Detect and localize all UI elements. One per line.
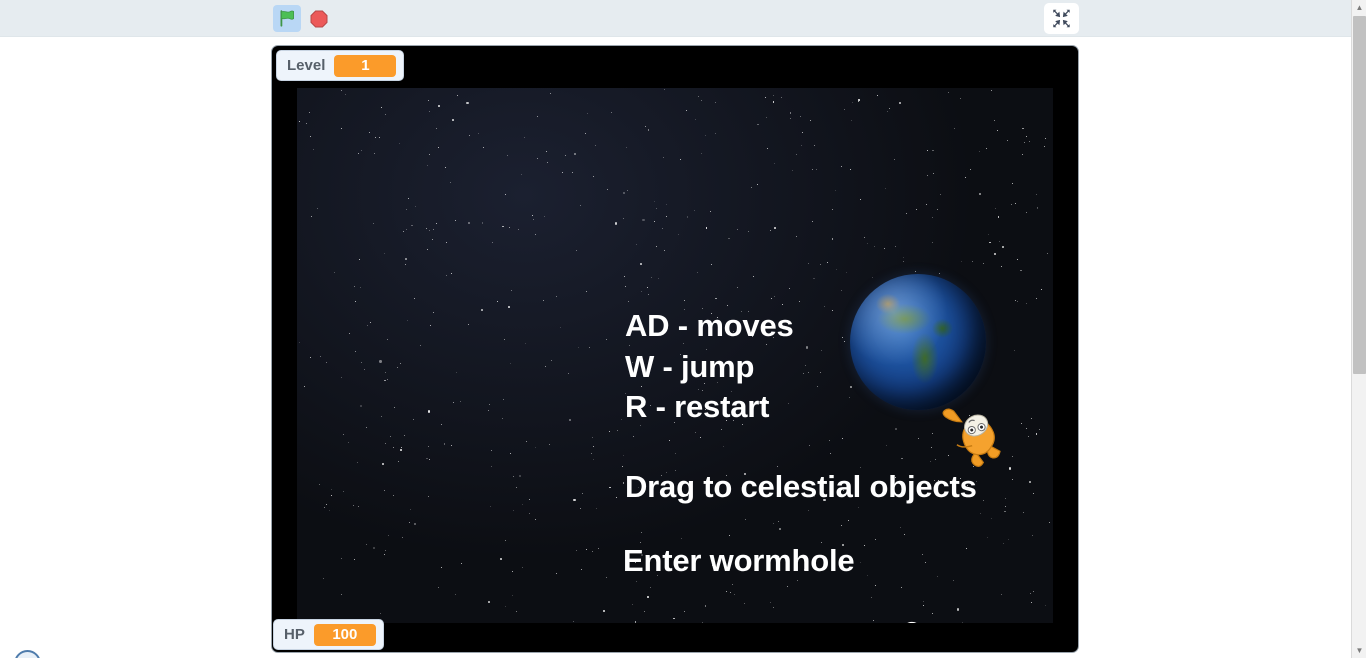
earth-sprite[interactable] [850, 274, 986, 410]
scratch-fullscreen-player: AD - moves W - jump R - restart Drag to … [0, 0, 1366, 658]
instruction-line-4: Drag to celestial objects [625, 469, 977, 505]
scroll-up-arrow-icon[interactable]: ▲ [1352, 0, 1366, 15]
page-corner-widget[interactable] [14, 650, 41, 658]
player-toolbar [0, 0, 1351, 37]
green-flag-button[interactable] [273, 5, 301, 32]
instruction-line-2: W - jump [625, 349, 754, 385]
variable-monitor-hp[interactable]: HP 100 [273, 619, 384, 650]
variable-monitor-level[interactable]: Level 1 [276, 50, 404, 81]
instruction-line-1: AD - moves [625, 308, 794, 344]
monitor-value-hp: 100 [314, 624, 376, 646]
instruction-line-3: R - restart [625, 389, 769, 425]
arrow-sprite[interactable] [855, 619, 955, 623]
exit-fullscreen-button[interactable] [1044, 3, 1079, 34]
monitor-label-level: Level [287, 57, 325, 74]
stage-area[interactable]: AD - moves W - jump R - restart Drag to … [271, 45, 1079, 653]
monitor-value-level: 1 [334, 55, 396, 77]
scrollbar-thumb[interactable] [1353, 16, 1366, 374]
monitor-label-hp: HP [284, 626, 305, 643]
scroll-down-arrow-icon[interactable]: ▼ [1352, 643, 1366, 658]
page-scrollbar[interactable]: ▲ ▼ [1351, 0, 1366, 658]
shrink-fullscreen-icon [1052, 9, 1071, 28]
stage-canvas[interactable]: AD - moves W - jump R - restart Drag to … [297, 88, 1053, 623]
stop-sign-icon [310, 10, 328, 28]
stop-button[interactable] [306, 6, 332, 31]
instruction-line-5: Enter wormhole [623, 543, 854, 579]
green-flag-icon [278, 9, 297, 28]
